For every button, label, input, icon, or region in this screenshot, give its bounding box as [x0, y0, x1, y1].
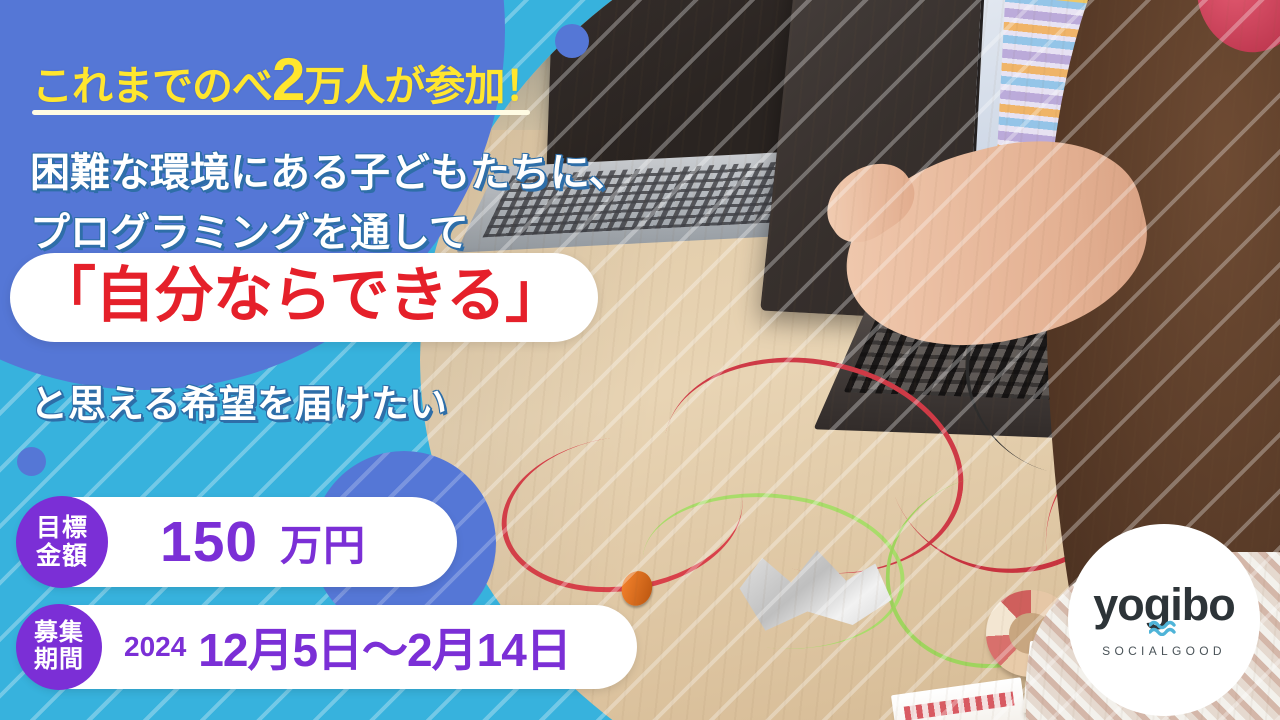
period-range: 12月5日〜2月14日: [198, 614, 571, 680]
campaign-banner: これまでのべ2万人が参加！ 困難な環境にある子どもたちに、 プログラミングを通し…: [0, 0, 1280, 720]
period-row: 募集 期間 2024 12月5日〜2月14日: [17, 605, 637, 689]
foil-craft-piece: [733, 542, 895, 638]
goal-amount-row: 目標 金額 150 万円: [17, 497, 457, 587]
bracelet: [1141, 365, 1255, 451]
quote-text: 「自分ならできる」: [36, 262, 564, 329]
kicker-number: 2: [272, 46, 304, 113]
tail-copy: と思える希望を届けたい: [30, 373, 447, 428]
goal-badge-line-1: 目標: [36, 514, 88, 542]
main-laptop-lid: [760, 0, 1212, 331]
kicker-suffix: 万人が参加！: [304, 63, 544, 109]
decorative-dot: [17, 447, 46, 476]
goal-amount-badge: 目標 金額: [16, 496, 108, 588]
period-badge-line-1: 募集: [34, 620, 84, 647]
goal-amount-value: 150: [160, 509, 258, 575]
alligator-clip: [617, 567, 656, 609]
period-year: 2024: [124, 631, 186, 663]
yogibo-wave-icon: [1149, 620, 1179, 636]
kicker-line: これまでのべ2万人が参加！: [32, 52, 544, 112]
yogibo-tagline: SOCIALGOOD: [1102, 644, 1226, 658]
hair-bow: [1184, 0, 1280, 64]
paper-craft-card: [891, 678, 1030, 720]
red-wire: [491, 421, 752, 607]
decorative-dot: [555, 24, 589, 58]
period-badge: 募集 期間: [16, 604, 102, 690]
main-laptop-base: [814, 275, 1280, 444]
kicker-prefix: これまでのべ: [32, 63, 272, 109]
quote-pill: 「自分ならできる」: [10, 253, 598, 342]
yogibo-logo: yogibo SOCIALGOOD: [1068, 524, 1260, 716]
washi-tape-roll: [986, 590, 1077, 676]
black-wire: [941, 237, 1213, 501]
period-badge-line-2: 期間: [34, 647, 84, 674]
goal-amount-unit: 万円: [280, 512, 366, 573]
main-laptop-screen: [966, 0, 1280, 318]
yogibo-wordmark: yogibo: [1093, 582, 1234, 627]
child-arm: [825, 115, 1165, 375]
main-laptop-keyboard: [844, 286, 1268, 405]
red-wire: [644, 331, 984, 601]
goal-badge-line-2: 金額: [36, 542, 88, 570]
lead-line-1: 困難な環境にある子どもたちに、: [30, 144, 629, 202]
lead-copy: 困難な環境にある子どもたちに、 プログラミングを通して: [30, 144, 629, 262]
green-wire: [635, 481, 912, 661]
child-pointing-finger: [813, 148, 926, 255]
kicker-underline: [32, 110, 530, 115]
